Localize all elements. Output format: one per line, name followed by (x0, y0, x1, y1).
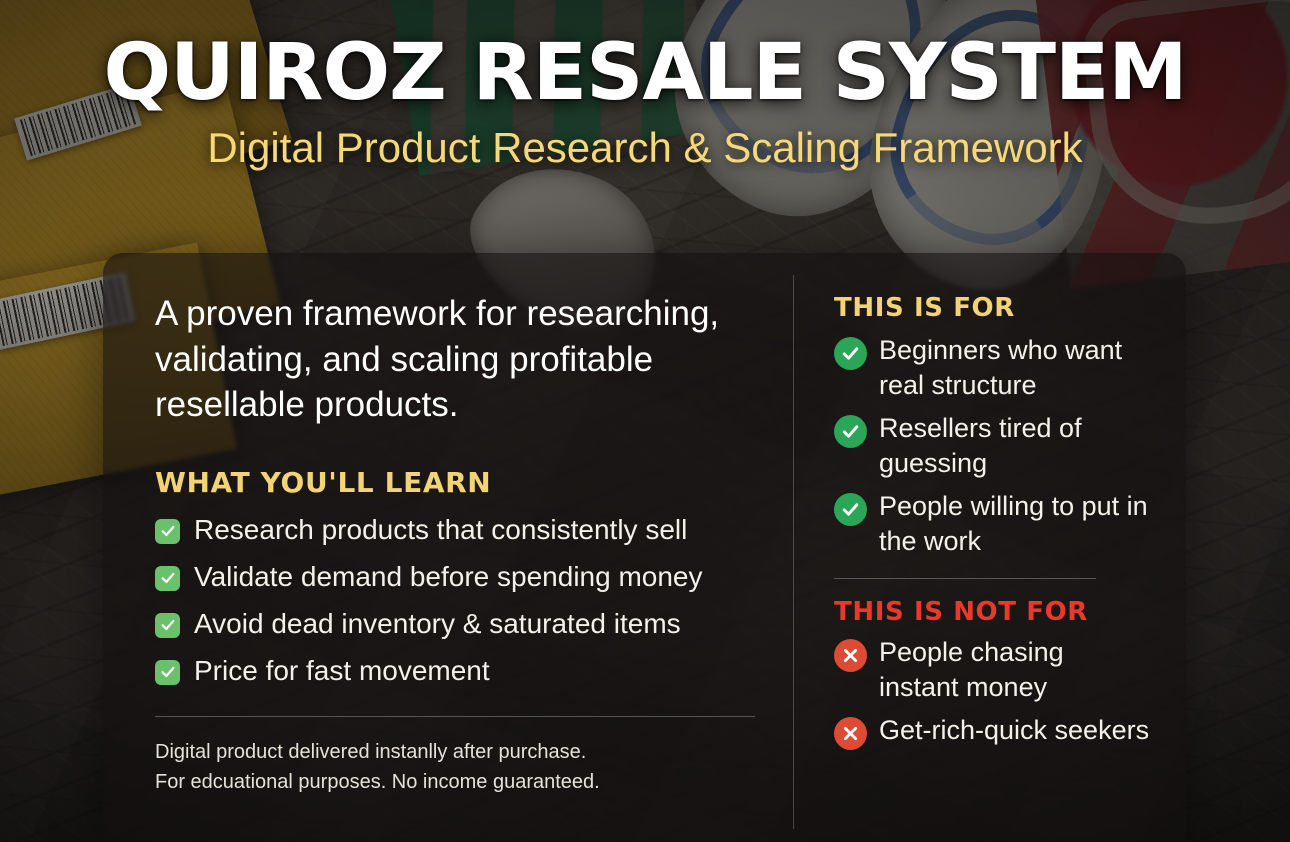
check-square-icon (155, 660, 180, 685)
check-square-icon (155, 613, 180, 638)
list-item: Resellers tired of guessing (834, 411, 1150, 481)
fine-print-line-1: Digital product delivered instanlly afte… (155, 737, 743, 767)
list-item: People willing to put in the work (834, 489, 1150, 559)
list-item-label: Resellers tired of guessing (879, 411, 1150, 481)
list-item-label: Get-rich-quick seekers (879, 713, 1149, 748)
this-is-not-for-heading: THIS IS NOT FOR (834, 597, 1150, 627)
list-item-label: Research products that consistently sell (194, 513, 687, 547)
fine-print-line-2: For edcuational purposes. No income guar… (155, 767, 743, 797)
list-item: Avoid dead inventory & saturated items (155, 607, 743, 641)
page-title: QUIROZ RESALE SYSTEM (0, 36, 1290, 111)
list-item: People chasing instant money (834, 635, 1150, 705)
fine-print: Digital product delivered instanlly afte… (155, 737, 743, 797)
x-circle-icon (834, 717, 867, 750)
right-column: THIS IS FOR Beginners who want real stru… (794, 253, 1186, 842)
list-item: Get-rich-quick seekers (834, 713, 1150, 750)
header: QUIROZ RESALE SYSTEM Digital Product Res… (0, 36, 1290, 169)
lede-paragraph: A proven framework for researching, vali… (155, 291, 743, 428)
list-item: Research products that consistently sell (155, 513, 743, 547)
this-is-for-heading: THIS IS FOR (834, 293, 1150, 323)
check-circle-icon (834, 337, 867, 370)
list-item: Validate demand before spending money (155, 560, 743, 594)
left-column: A proven framework for researching, vali… (103, 253, 793, 842)
page-subtitle: Digital Product Research & Scaling Frame… (0, 127, 1290, 169)
content-card: A proven framework for researching, vali… (103, 253, 1186, 842)
list-item-label: Avoid dead inventory & saturated items (194, 607, 681, 641)
what-youll-learn-list: Research products that consistently sell… (155, 513, 743, 689)
list-item-label: Beginners who want real structure (879, 333, 1150, 403)
check-square-icon (155, 566, 180, 591)
this-is-for-list: Beginners who want real structure Resell… (834, 333, 1150, 560)
check-circle-icon (834, 493, 867, 526)
list-item-label: People chasing instant money (879, 635, 1150, 705)
list-item-label: People willing to put in the work (879, 489, 1150, 559)
list-item-label: Validate demand before spending money (194, 560, 703, 594)
promo-graphic: QUIROZ RESALE SYSTEM Digital Product Res… (0, 0, 1290, 842)
left-divider (155, 716, 755, 717)
check-circle-icon (834, 415, 867, 448)
list-item: Beginners who want real structure (834, 333, 1150, 403)
list-item: Price for fast movement (155, 654, 743, 688)
this-is-not-for-list: People chasing instant money Get-rich-qu… (834, 635, 1150, 750)
x-circle-icon (834, 639, 867, 672)
list-item-label: Price for fast movement (194, 654, 490, 688)
what-youll-learn-heading: WHAT YOU'LL LEARN (155, 466, 743, 499)
check-square-icon (155, 519, 180, 544)
right-divider (834, 578, 1096, 579)
